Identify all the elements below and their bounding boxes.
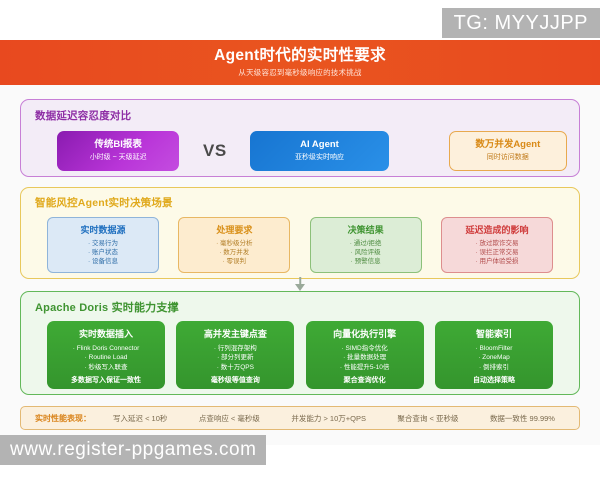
card-smart-index[interactable]: 智能索引 · BloomFilter · ZoneMap · 倒排索引 自动选择… <box>435 321 553 389</box>
card-realtime-data-source[interactable]: 实时数据源 · 交易行为 · 账户状态 · 设备信息 <box>47 217 159 273</box>
metric-data-consistency: 数据一致性 99.99% <box>490 413 555 424</box>
card-realtime-insert-item-2: · Routine Load <box>85 353 128 362</box>
card-realtime-insert-head: 实时数据插入 <box>79 327 133 340</box>
metrics-label: 实时性能表现： <box>35 413 91 424</box>
slide-body: 数据延迟容忍度对比 传统BI报表 小时级 ~ 天级延迟 VS AI Agent … <box>0 85 600 445</box>
card-high-concurrency-point-query-head: 高并发主键点查 <box>204 327 267 340</box>
card-smart-index-item-2: · ZoneMap <box>478 353 509 362</box>
card-high-concurrency-point-query-foot: 毫秒级等值查询 <box>211 375 260 385</box>
card-vectorized-engine-foot: 聚合查询优化 <box>344 375 386 385</box>
card-concurrent-agents-desc: 同时访问数据 <box>487 154 529 162</box>
slide-header: Agent时代的实时性要求 从天级容忍到毫秒级响应的技术挑战 <box>0 40 600 85</box>
card-realtime-insert-foot: 多数据写入保证一致性 <box>71 375 141 385</box>
card-processing-requirements-head: 处理要求 <box>216 223 252 236</box>
card-smart-index-head: 智能索引 <box>476 327 512 340</box>
card-latency-impact[interactable]: 延迟造成的影响 · 放过欺诈交易 · 误拦正常交易 · 用户体验受损 <box>441 217 553 273</box>
card-smart-index-foot: 自动选择策略 <box>473 375 515 385</box>
metrics-items: 写入延迟 < 10秒 点查响应 < 毫秒级 并发能力 > 10万+QPS 聚合查… <box>113 413 565 424</box>
performance-metrics-bar: 实时性能表现： 写入延迟 < 10秒 点查响应 < 毫秒级 并发能力 > 10万… <box>20 406 580 430</box>
card-processing-requirements-item-2: · 数万并发 <box>219 248 249 257</box>
vs-label: VS <box>179 141 250 161</box>
card-ai-agent-desc: 亚秒级实时响应 <box>295 154 344 162</box>
card-realtime-insert[interactable]: 实时数据插入 · Flink Doris Connector · Routine… <box>47 321 165 389</box>
site-watermark-text: www.register-ppgames.com <box>10 439 256 461</box>
metric-point-query-response: 点查响应 < 毫秒级 <box>199 413 260 424</box>
card-ai-agent-title: AI Agent <box>300 140 339 151</box>
card-high-concurrency-point-query-item-2: · 部分列更新 <box>217 353 253 362</box>
card-processing-requirements-item-3: · 零误判 <box>223 257 246 266</box>
section-doris-title: Apache Doris 实时能力支撑 <box>35 299 567 315</box>
section-risk-control-scenario: 智能风控Agent实时决策场景 实时数据源 · 交易行为 · 账户状态 · 设备… <box>20 187 580 279</box>
metric-write-latency: 写入延迟 < 10秒 <box>113 413 167 424</box>
metric-concurrency: 并发能力 > 10万+QPS <box>291 413 366 424</box>
card-vectorized-engine-item-1: · SIMD指令优化 <box>342 344 388 353</box>
section-scenario-title: 智能风控Agent实时决策场景 <box>35 195 567 210</box>
card-processing-requirements-item-1: · 毫秒级分析 <box>216 239 252 248</box>
card-high-concurrency-point-query-item-3: · 数十万QPS <box>217 363 254 372</box>
scenario-card-row: 实时数据源 · 交易行为 · 账户状态 · 设备信息 处理要求 · 毫秒级分析 … <box>35 217 567 273</box>
card-traditional-bi-desc: 小时级 ~ 天级延迟 <box>90 154 147 162</box>
card-decision-result-item-3: · 预警信息 <box>351 257 381 266</box>
card-latency-impact-item-2: · 误拦正常交易 <box>475 248 518 257</box>
telegram-watermark-text: TG: MYYJJPP <box>454 12 588 35</box>
latency-card-row: 传统BI报表 小时级 ~ 天级延迟 VS AI Agent 亚秒级实时响应 数万… <box>35 131 567 171</box>
card-realtime-insert-item-1: · Flink Doris Connector <box>73 344 139 353</box>
card-concurrent-agents[interactable]: 数万并发Agent 同时访问数据 <box>449 131 567 171</box>
card-vectorized-engine-head: 向量化执行引擎 <box>333 327 396 340</box>
card-decision-result-head: 决策结果 <box>348 223 384 236</box>
section-latency-title: 数据延迟容忍度对比 <box>35 108 567 123</box>
page-title: Agent时代的实时性要求 <box>214 47 386 64</box>
card-vectorized-engine-item-2: · 批量数据处理 <box>343 353 386 362</box>
card-high-concurrency-point-query-item-1: · 行列混存架构 <box>214 344 257 353</box>
card-traditional-bi-title: 传统BI报表 <box>94 140 142 151</box>
card-vectorized-engine[interactable]: 向量化执行引擎 · SIMD指令优化 · 批量数据处理 · 性能提升5-10倍 … <box>306 321 424 389</box>
card-traditional-bi[interactable]: 传统BI报表 小时级 ~ 天级延迟 <box>57 131 179 171</box>
card-ai-agent[interactable]: AI Agent 亚秒级实时响应 <box>250 131 388 171</box>
card-realtime-data-source-item-3: · 设备信息 <box>88 257 118 266</box>
page-subtitle: 从天级容忍到毫秒级响应的技术挑战 <box>238 67 361 78</box>
card-decision-result[interactable]: 决策结果 · 通过/拒绝 · 风险评级 · 预警信息 <box>310 217 422 273</box>
card-decision-result-item-1: · 通过/拒绝 <box>350 239 382 248</box>
section-apache-doris: Apache Doris 实时能力支撑 实时数据插入 · Flink Doris… <box>20 291 580 395</box>
metric-aggregate-query: 聚合查询 < 亚秒级 <box>397 413 458 424</box>
card-realtime-data-source-head: 实时数据源 <box>80 223 125 236</box>
card-realtime-insert-item-3: · 秒级写入联查 <box>85 363 128 372</box>
card-latency-impact-item-3: · 用户体验受损 <box>475 257 518 266</box>
card-concurrent-agents-title: 数万并发Agent <box>475 140 540 151</box>
card-vectorized-engine-item-3: · 性能提升5-10倍 <box>340 363 389 372</box>
card-realtime-data-source-item-2: · 账户状态 <box>88 248 118 257</box>
doris-card-row: 实时数据插入 · Flink Doris Connector · Routine… <box>35 321 567 389</box>
card-latency-impact-item-1: · 放过欺诈交易 <box>475 239 518 248</box>
telegram-watermark: TG: MYYJJPP <box>442 8 600 38</box>
card-smart-index-item-3: · 倒排索引 <box>479 363 509 372</box>
card-realtime-data-source-item-1: · 交易行为 <box>88 239 118 248</box>
site-watermark: www.register-ppgames.com <box>0 435 266 465</box>
card-latency-impact-head: 延迟造成的影响 <box>465 223 528 236</box>
card-processing-requirements[interactable]: 处理要求 · 毫秒级分析 · 数万并发 · 零误判 <box>178 217 290 273</box>
card-smart-index-item-1: · BloomFilter <box>476 344 513 353</box>
card-decision-result-item-2: · 风险评级 <box>351 248 381 257</box>
section-latency-comparison: 数据延迟容忍度对比 传统BI报表 小时级 ~ 天级延迟 VS AI Agent … <box>20 99 580 177</box>
down-arrow-icon <box>295 284 305 291</box>
card-high-concurrency-point-query[interactable]: 高并发主键点查 · 行列混存架构 · 部分列更新 · 数十万QPS 毫秒级等值查… <box>176 321 294 389</box>
